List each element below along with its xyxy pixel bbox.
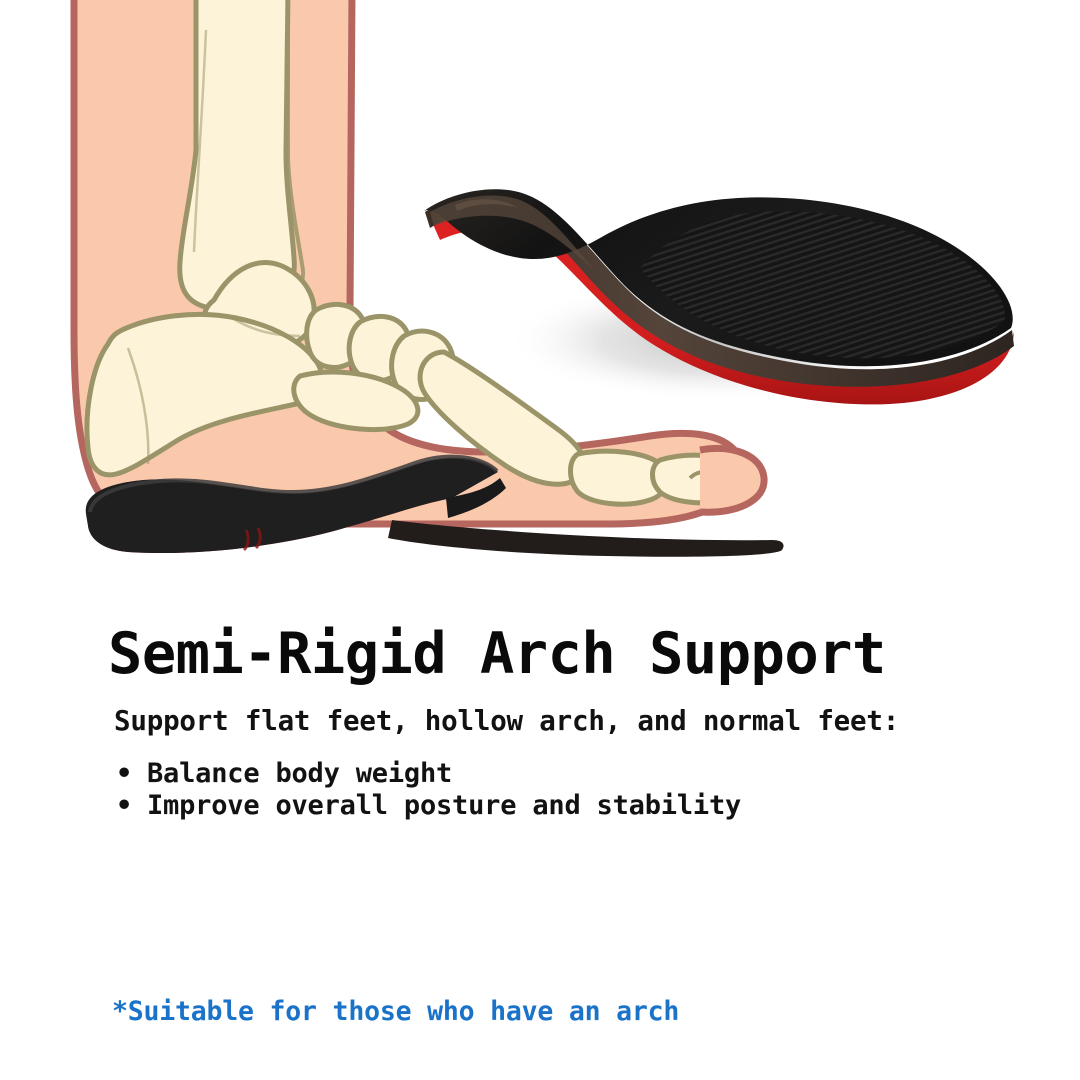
insole-product-infographic: Semi-Rigid Arch Support Support flat fee… <box>0 0 1080 1080</box>
illustration-area <box>0 0 1080 600</box>
foot-anatomy-illustration <box>0 0 1080 600</box>
copy-block: Semi-Rigid Arch Support Support flat fee… <box>0 600 1080 1080</box>
footnote: *Suitable for those who have an arch hei… <box>112 932 679 1080</box>
bullet-marker-icon: • <box>116 790 132 822</box>
toe-skin-bump <box>700 448 764 512</box>
benefit-list: • Balance body weight • Improve overall … <box>112 758 741 821</box>
footnote-line-1: *Suitable for those who have an arch <box>112 996 679 1028</box>
product-photo-insole <box>424 189 1014 404</box>
list-item-label: Balance body weight <box>147 758 452 789</box>
subtitle: Support flat feet, hollow arch, and norm… <box>114 705 899 737</box>
list-item-label: Improve overall posture and stability <box>147 790 741 821</box>
bullet-marker-icon: • <box>116 758 132 790</box>
list-item: • Balance body weight <box>112 758 741 790</box>
page-title: Semi-Rigid Arch Support <box>108 624 886 686</box>
list-item: • Improve overall posture and stability <box>112 790 741 822</box>
